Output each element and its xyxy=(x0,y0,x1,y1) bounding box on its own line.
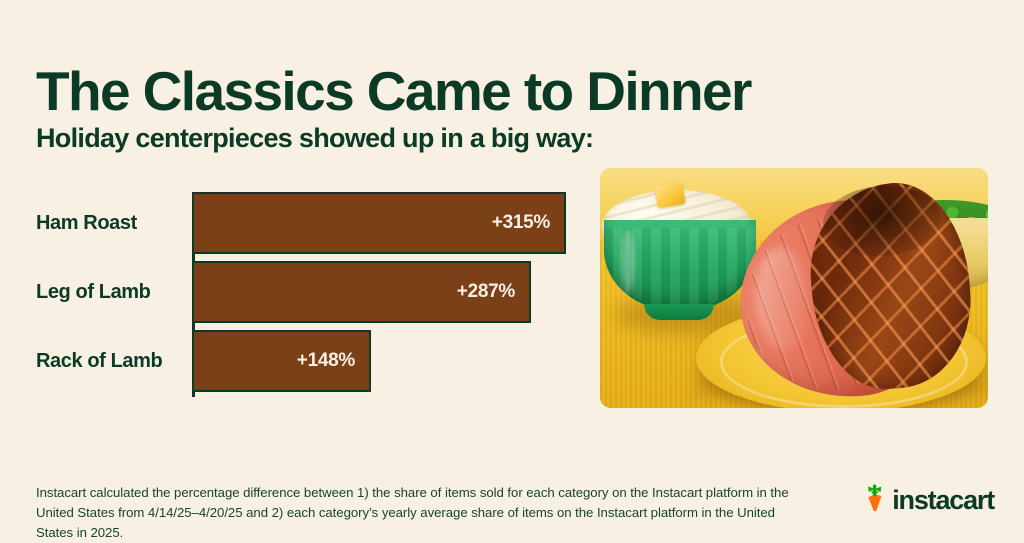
bar-value-ham-roast: +315% xyxy=(492,212,564,234)
page-title: The Classics Came to Dinner xyxy=(36,63,751,119)
instacart-logo[interactable]: instacart xyxy=(863,484,994,517)
bar-value-rack-of-lamb: +148% xyxy=(297,350,369,372)
page-subtitle: Holiday centerpieces showed up in a big … xyxy=(36,124,593,154)
bar-value-leg-of-lamb: +287% xyxy=(457,281,529,303)
category-label-ham-roast: Ham Roast xyxy=(36,192,137,254)
infographic-page: The Classics Came to Dinner Holiday cent… xyxy=(0,0,1024,541)
bar-ham-roast[interactable]: +315% xyxy=(192,192,566,254)
carrot-icon xyxy=(863,484,887,517)
food-photo xyxy=(600,168,988,408)
glazed-ham xyxy=(733,178,977,408)
instacart-wordmark: instacart xyxy=(892,487,994,514)
category-label-rack-of-lamb: Rack of Lamb xyxy=(36,330,162,392)
methodology-footnote: Instacart calculated the percentage diff… xyxy=(36,483,796,543)
bar-chart: Ham Roast +315% Leg of Lamb +287% Rack o… xyxy=(0,186,580,406)
category-label-leg-of-lamb: Leg of Lamb xyxy=(36,261,151,323)
green-bowl-foot xyxy=(644,304,714,320)
bar-leg-of-lamb[interactable]: +287% xyxy=(192,261,531,323)
butter-pat xyxy=(654,182,685,208)
bar-rack-of-lamb[interactable]: +148% xyxy=(192,330,371,392)
